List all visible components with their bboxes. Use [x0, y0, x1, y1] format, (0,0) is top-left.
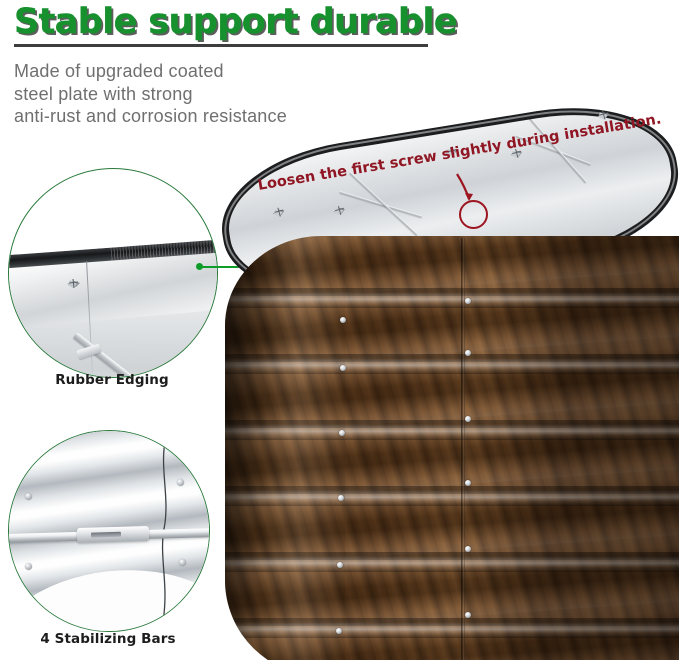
wall-screw: [336, 628, 342, 634]
callout-label-stabilizing-bars: 4 Stabilizing Bars: [8, 631, 208, 647]
wall-screw: [337, 562, 343, 568]
infographic-page: Stable support durable Made of upgraded …: [0, 0, 679, 660]
wall-screw: [338, 495, 344, 501]
inset-screw-dot: [25, 563, 32, 570]
inset-screw-icon: [65, 277, 82, 290]
page-title-wrap: Stable support durable: [14, 0, 457, 44]
wall-screw-seam: [465, 546, 471, 552]
inset-screw-dot: [177, 479, 184, 486]
wall-screw-seam: [465, 612, 471, 618]
inset-screw-dot: [25, 493, 32, 500]
wall-screw-seam: [465, 480, 471, 486]
wall-screw-seam: [465, 298, 471, 304]
wall-screw: [340, 365, 346, 371]
inset-screw-dot: [179, 559, 186, 566]
title-underline-rule: [14, 44, 428, 47]
callout-circle-stabilizing-bars: [8, 430, 210, 632]
wall-screw: [340, 317, 346, 323]
wall-screw-seam: [465, 350, 471, 356]
wall-rounded-corner: [225, 236, 345, 660]
wall-screw: [339, 430, 345, 436]
product-image-raised-garden-bed: [225, 150, 679, 660]
callout-label-rubber-edging: Rubber Edging: [8, 372, 216, 388]
installation-annotation: Loosen the first screw slightly during i…: [258, 148, 679, 218]
page-subtitle: Made of upgraded coated steel plate with…: [14, 60, 474, 128]
callout-circle-rubber-edging: [8, 168, 218, 378]
annotation-highlight-circle: [459, 200, 488, 229]
stabilizing-bar-turnbuckle: [77, 526, 149, 543]
page-title: Stable support durable: [14, 0, 457, 44]
wall-screw-seam: [465, 416, 471, 422]
